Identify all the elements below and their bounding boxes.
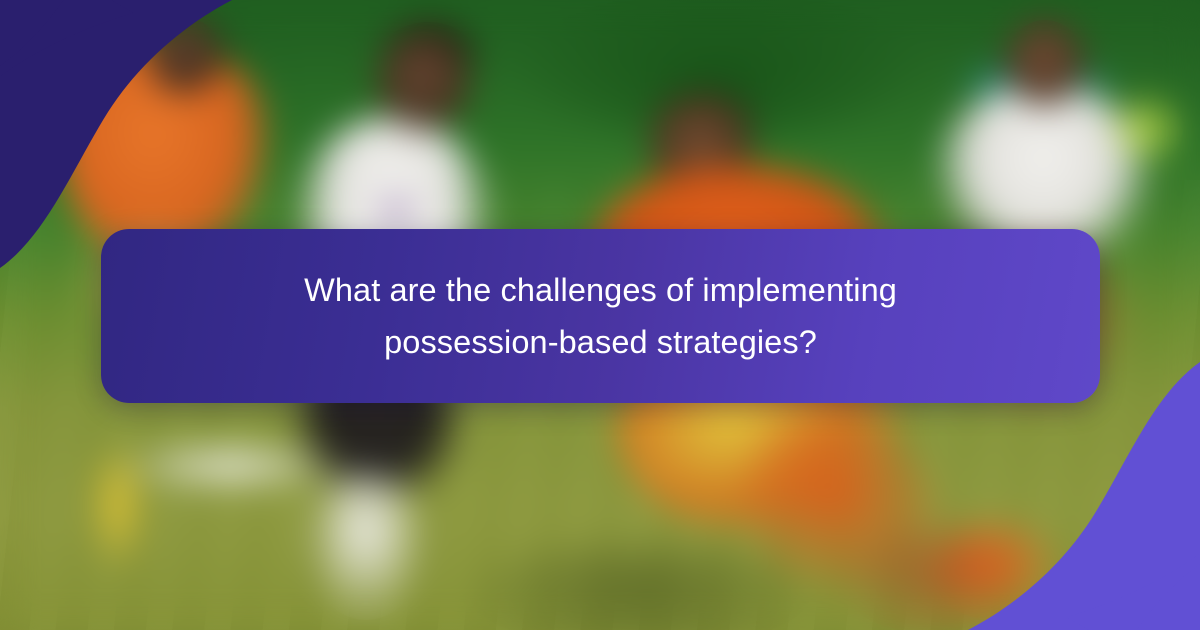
question-card[interactable]: What are the challenges of implementing … bbox=[101, 229, 1100, 403]
share-card-poster: What are the challenges of implementing … bbox=[0, 0, 1200, 630]
question-text: What are the challenges of implementing … bbox=[221, 264, 981, 368]
